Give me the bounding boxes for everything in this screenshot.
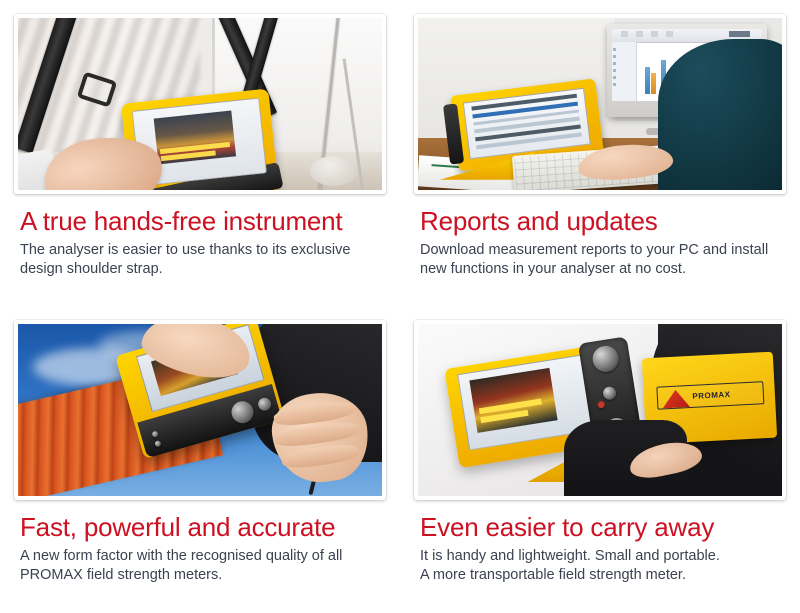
photo-reports-updates: [418, 18, 782, 190]
foreground-object: [310, 156, 358, 186]
toolbar-swatch-4: [666, 31, 673, 37]
feature-title-hands-free: A true hands-free instrument: [20, 206, 386, 236]
toolbar-swatch-5: [729, 31, 750, 37]
feature-grid: A true hands-free instrument The analyse…: [0, 0, 800, 613]
sidebar-row-5: [613, 76, 616, 79]
feature-body-line-1: The analyser is easier to use thanks to …: [20, 241, 386, 260]
promax-wordmark: PROMAX: [692, 390, 731, 401]
feature-body-fast-powerful-accurate: A new form factor with the recognised qu…: [20, 547, 386, 585]
feature-title-fast-powerful-accurate: Fast, powerful and accurate: [20, 512, 386, 542]
photo-card-easier-to-carry: PROMAX: [414, 320, 786, 500]
connector-small: [257, 396, 273, 412]
chart-bar: [651, 73, 656, 94]
feature-title-easier-to-carry: Even easier to carry away: [420, 512, 786, 542]
photo-card-hands-free: [14, 14, 386, 194]
feature-body-reports-updates: Download measurement reports to your PC …: [420, 241, 786, 279]
promax-logo: PROMAX: [656, 381, 764, 409]
sidebar-row-3: [613, 62, 616, 65]
sidebar-row-1: [613, 48, 616, 51]
screen-video-image: [469, 368, 557, 432]
sidebar-row-4: [613, 69, 616, 72]
connector-mid: [602, 386, 617, 401]
promax-triangle-icon: [661, 386, 689, 408]
feature-card-reports-updates: Reports and updates Download measurement…: [400, 0, 800, 306]
app-sidebar: [612, 42, 637, 101]
photo-hands-free: [18, 18, 382, 190]
power-led: [597, 401, 605, 409]
toolbar-swatch-3: [651, 31, 658, 37]
photo-card-reports-updates: [414, 14, 786, 194]
toolbar-swatch-1: [621, 31, 628, 37]
photo-card-fast-powerful-accurate: [14, 320, 386, 500]
rf-connector-knob: [229, 399, 256, 426]
sidebar-row-2: [613, 55, 616, 58]
toolbar-swatch-2: [636, 31, 643, 37]
feature-body-hands-free: The analyser is easier to use thanks to …: [20, 241, 386, 279]
feature-card-hands-free: A true hands-free instrument The analyse…: [0, 0, 400, 306]
feature-card-easier-to-carry: PROMAX Even easier to carry away It is h…: [400, 306, 800, 613]
chart-bar: [645, 67, 650, 94]
rf-connector-top: [591, 344, 621, 374]
feature-body-line-1: Download measurement reports to your PC …: [420, 241, 786, 260]
feature-body-line-2: new functions in your analyser at no cos…: [420, 260, 786, 279]
feature-body-line-2: PROMAX field strength meters.: [20, 566, 386, 585]
screw-1: [152, 430, 159, 437]
feature-body-line-1: A new form factor with the recognised qu…: [20, 547, 386, 566]
feature-body-easier-to-carry: It is handy and lightweight. Small and p…: [420, 547, 786, 585]
screw-2: [154, 440, 161, 447]
person-torso: [658, 39, 782, 190]
sidebar-row-6: [613, 83, 616, 86]
device-screen: [463, 87, 591, 159]
feature-body-line-1: It is handy and lightweight. Small and p…: [420, 547, 786, 566]
feature-body-line-2: design shoulder strap.: [20, 260, 386, 279]
photo-carry-away: PROMAX: [418, 324, 782, 496]
feature-body-line-2: A more transportable field strength mete…: [420, 566, 786, 585]
photo-rooftop: [18, 324, 382, 496]
feature-card-fast-powerful-accurate: Fast, powerful and accurate A new form f…: [0, 306, 400, 613]
feature-title-reports-updates: Reports and updates: [420, 206, 786, 236]
